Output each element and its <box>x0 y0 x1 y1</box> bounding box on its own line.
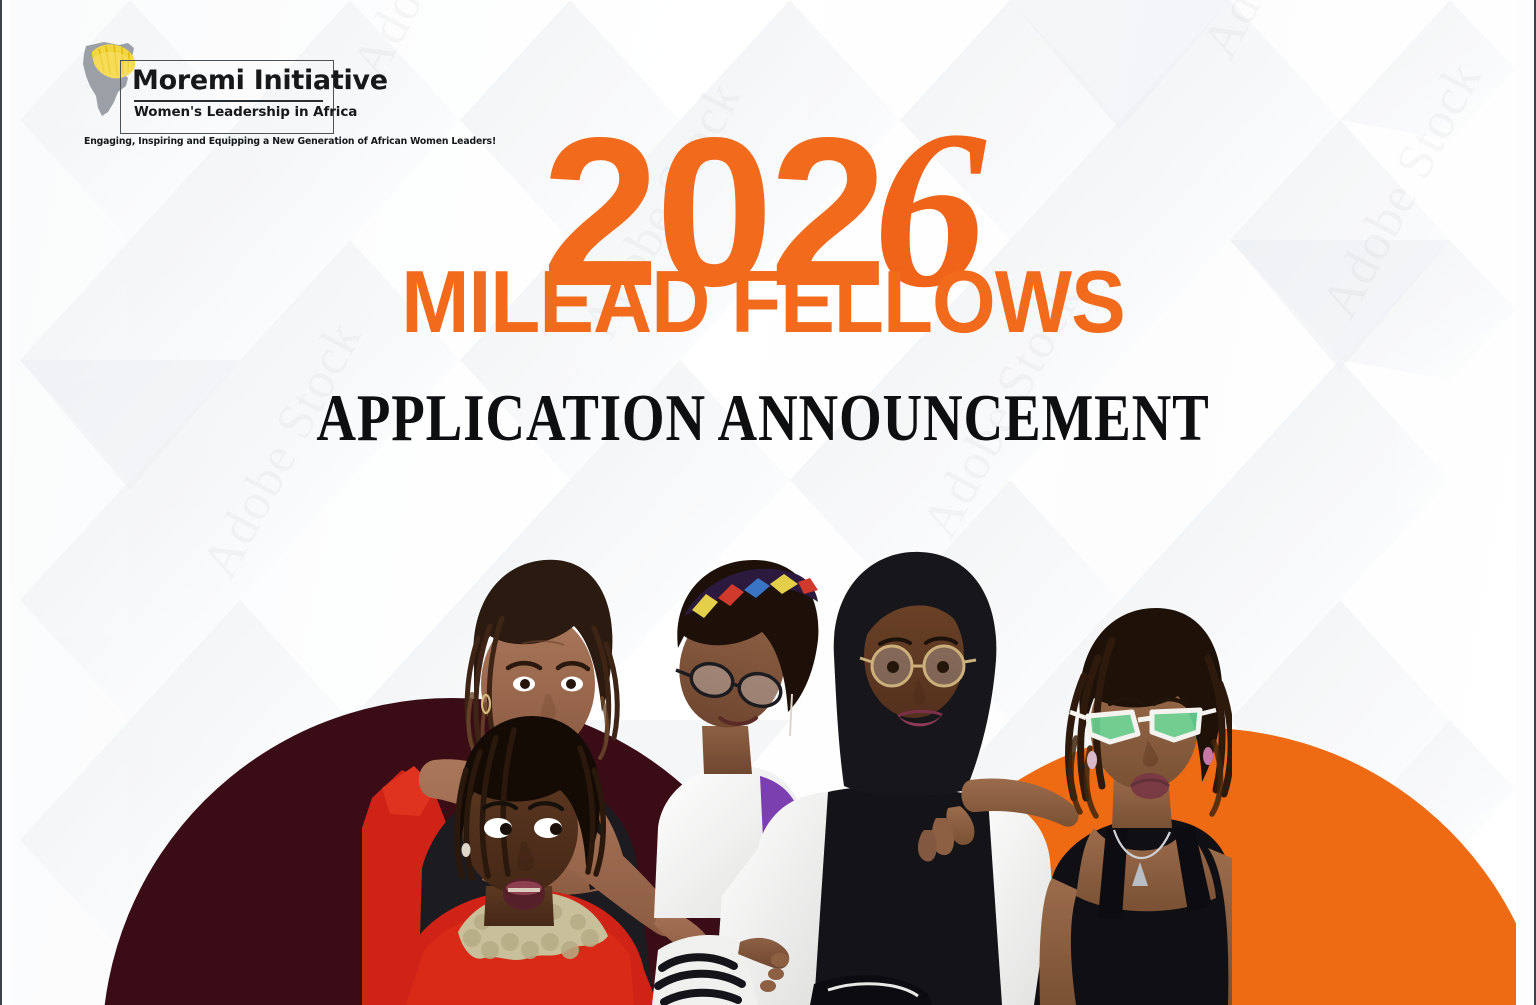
poster-canvas: Adobe Stock Adobe Stock Adobe Stock Adob… <box>0 0 1536 1005</box>
fellows-group-photo <box>362 498 1232 1005</box>
announcement-heading: APPLICATION ANNOUNCEMENT <box>146 385 1381 452</box>
program-heading: MILEAD FELLOWS <box>63 258 1464 346</box>
poster-page: Adobe Stock Adobe Stock Adobe Stock Adob… <box>10 0 1516 1005</box>
logo-name: Moremi Initiative <box>132 66 332 96</box>
watermark-text: Adobe Stock <box>1190 0 1374 68</box>
